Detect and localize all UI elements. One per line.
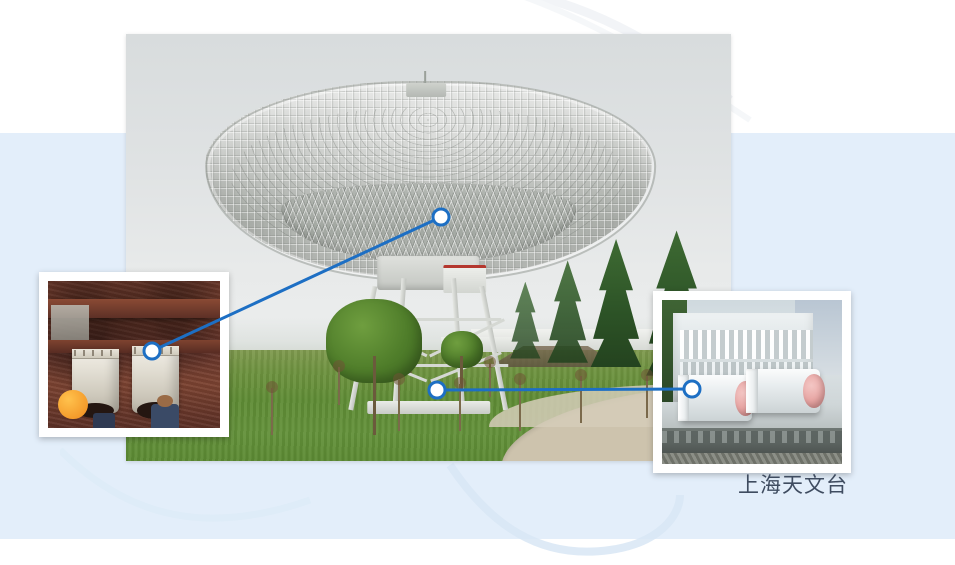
sapling [580, 376, 582, 423]
tree-trunk [373, 356, 376, 435]
dish-backup-structure [281, 183, 576, 262]
base-rail [662, 428, 842, 454]
orange-highlight-dot [58, 390, 87, 419]
gray-machinery-block [51, 305, 89, 340]
cylinder-ring [678, 375, 690, 421]
sapling [338, 367, 340, 405]
telescope-dish-assembly [205, 81, 653, 277]
sapling [519, 380, 521, 431]
inset-left-content [48, 281, 220, 428]
inset-photo-left [39, 272, 229, 437]
mount-leg [479, 286, 508, 411]
drive-cylinder [680, 375, 752, 421]
cylinder-end-cap [803, 374, 825, 408]
worker-figure [93, 413, 115, 428]
inset-right-content [662, 300, 842, 464]
sapling [271, 388, 273, 435]
cylinder-ring [746, 369, 758, 413]
sapling [398, 380, 400, 431]
inset-photo-right [653, 291, 851, 473]
cylinder-bolts [74, 350, 117, 356]
cylinder-bolts [134, 347, 177, 354]
sapling [489, 363, 491, 397]
housing-fins [680, 330, 813, 360]
sapling [459, 384, 461, 431]
slide-canvas: 上海天文台 [0, 0, 955, 539]
drive-cylinder [748, 369, 820, 413]
gravel-ground [662, 453, 842, 464]
feed-housing [406, 83, 446, 97]
photo-caption: 上海天文台 [738, 469, 848, 499]
sapling [646, 376, 648, 419]
worker-figure [151, 404, 179, 428]
